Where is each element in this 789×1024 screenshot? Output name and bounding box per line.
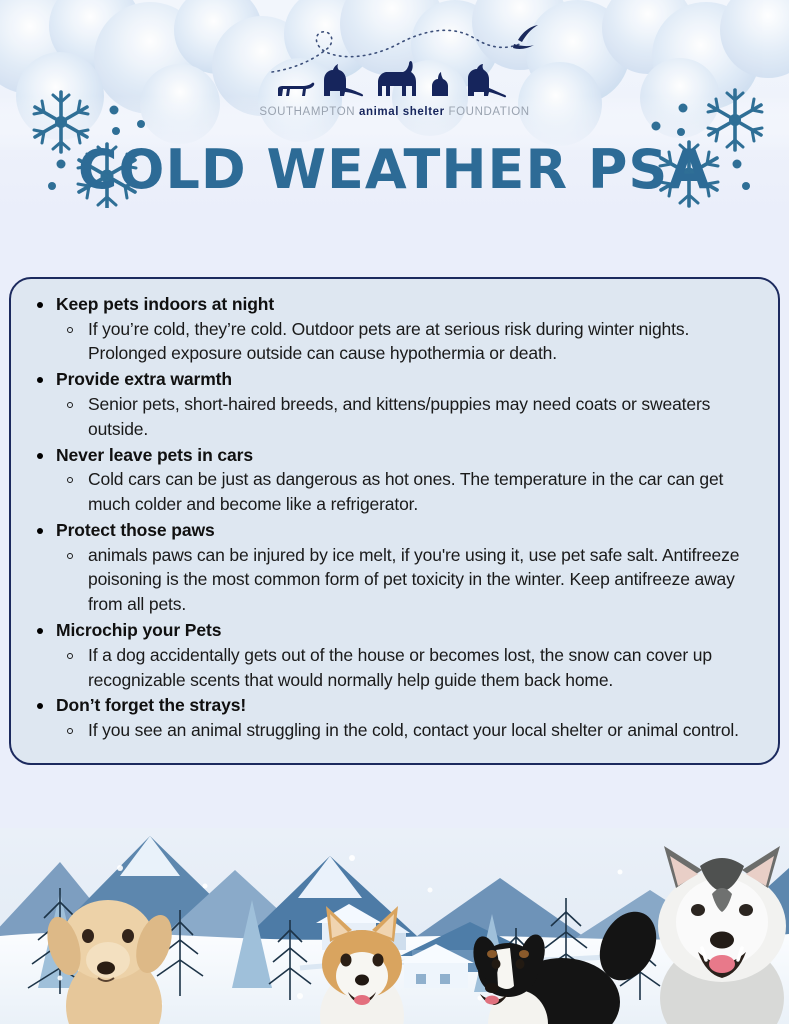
tip-details: If you see an animal struggling in the c… — [56, 718, 762, 743]
bullet-icon — [37, 453, 43, 459]
logo-word-southampton: SOUTHAMPTON — [259, 106, 355, 118]
tip-details: animals paws can be injured by ice melt,… — [56, 543, 762, 618]
bullet-icon — [37, 377, 43, 383]
bullet-icon — [37, 703, 43, 709]
animal-silhouettes-icon — [272, 58, 518, 104]
tip-heading: Don’t forget the strays! — [56, 694, 762, 718]
list-item: Senior pets, short-haired breeds, and ki… — [56, 392, 762, 442]
winter-scene-illustration — [0, 828, 789, 1024]
tip-details: Cold cars can be just as dangerous as ho… — [56, 467, 762, 517]
list-item: Don’t forget the strays! If you see an a… — [27, 694, 762, 742]
list-item: animals paws can be injured by ice melt,… — [56, 543, 762, 618]
sub-bullet-icon — [67, 553, 73, 559]
tip-detail-text: animals paws can be injured by ice melt,… — [88, 543, 762, 618]
bullet-icon — [37, 302, 43, 308]
cold-weather-tips-card: Keep pets indoors at night If you’re col… — [9, 277, 780, 765]
list-item: Provide extra warmth Senior pets, short-… — [27, 368, 762, 441]
sub-bullet-icon — [67, 327, 73, 333]
sub-bullet-icon — [67, 402, 73, 408]
logo-word-foundation: FOUNDATION — [449, 106, 530, 118]
tip-detail-text: If you see an animal struggling in the c… — [88, 718, 762, 743]
tip-heading: Provide extra warmth — [56, 368, 762, 392]
list-item: Microchip your Pets If a dog accidentall… — [27, 619, 762, 692]
logo-word-animal-shelter: animal shelter — [359, 106, 445, 118]
logo-wordmark: SOUTHAMPTON animal shelter FOUNDATION — [0, 106, 789, 118]
page-title: COLD WEATHER PSA — [0, 138, 789, 201]
list-item: If you’re cold, they’re cold. Outdoor pe… — [56, 317, 762, 367]
tip-detail-text: If you’re cold, they’re cold. Outdoor pe… — [88, 317, 762, 367]
bullet-icon — [37, 628, 43, 634]
list-item: Keep pets indoors at night If you’re col… — [27, 293, 762, 366]
list-item: Cold cars can be just as dangerous as ho… — [56, 467, 762, 517]
tips-list: Keep pets indoors at night If you’re col… — [27, 293, 762, 743]
tip-detail-text: Cold cars can be just as dangerous as ho… — [88, 467, 762, 517]
list-item: If you see an animal struggling in the c… — [56, 718, 762, 743]
tip-heading: Never leave pets in cars — [56, 444, 762, 468]
bullet-icon — [37, 528, 43, 534]
tip-details: Senior pets, short-haired breeds, and ki… — [56, 392, 762, 442]
tip-details: If a dog accidentally gets out of the ho… — [56, 643, 762, 693]
tip-heading: Protect those paws — [56, 519, 762, 543]
list-item: Protect those paws animals paws can be i… — [27, 519, 762, 617]
tip-detail-text: If a dog accidentally gets out of the ho… — [88, 643, 762, 693]
page-header: SOUTHAMPTON animal shelter FOUNDATION CO… — [0, 0, 789, 215]
tip-heading: Keep pets indoors at night — [56, 293, 762, 317]
tip-detail-text: Senior pets, short-haired breeds, and ki… — [88, 392, 762, 442]
tip-heading: Microchip your Pets — [56, 619, 762, 643]
list-item: If a dog accidentally gets out of the ho… — [56, 643, 762, 693]
sub-bullet-icon — [67, 728, 73, 734]
sub-bullet-icon — [67, 477, 73, 483]
winter-dogs-photo — [0, 828, 789, 1024]
sub-bullet-icon — [67, 653, 73, 659]
dog-alaskan-malamute — [658, 846, 786, 1024]
shelter-logo: SOUTHAMPTON animal shelter FOUNDATION — [0, 58, 789, 118]
list-item: Never leave pets in cars Cold cars can b… — [27, 444, 762, 517]
tip-details: If you’re cold, they’re cold. Outdoor pe… — [56, 317, 762, 367]
